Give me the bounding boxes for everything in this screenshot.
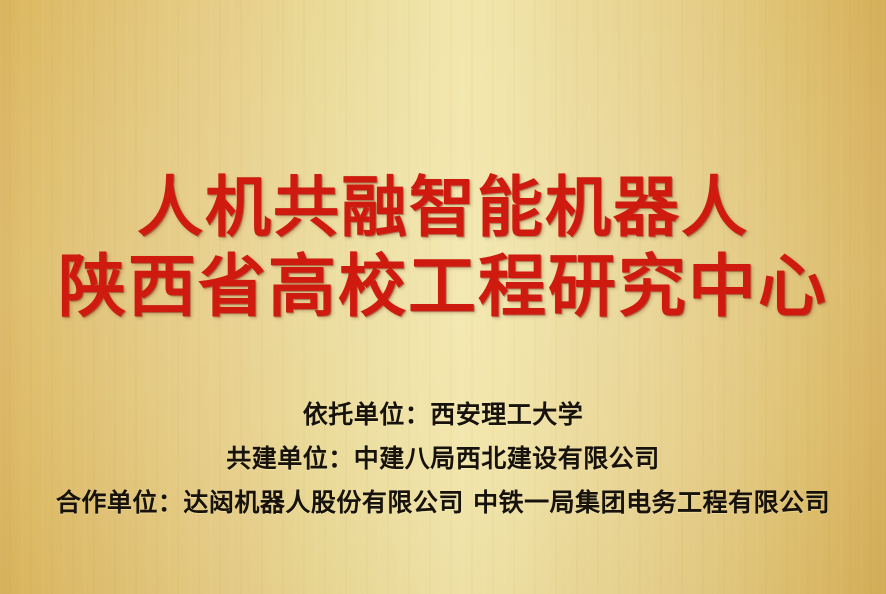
affiliation-co-builder: 共建单位：中建八局西北建设有限公司	[0, 437, 886, 481]
plaque-title: 人机共融智能机器人 陕西省高校工程研究中心	[0, 168, 886, 328]
title-line-1: 人机共融智能机器人	[0, 168, 886, 246]
affiliation-list: 依托单位：西安理工大学 共建单位：中建八局西北建设有限公司 合作单位：达闼机器人…	[0, 393, 886, 525]
title-line-2: 陕西省高校工程研究中心	[0, 246, 886, 328]
plaque-content: 人机共融智能机器人 陕西省高校工程研究中心 依托单位：西安理工大学 共建单位：中…	[0, 0, 886, 594]
affiliation-host-institution: 依托单位：西安理工大学	[0, 393, 886, 437]
affiliation-partners: 合作单位：达闼机器人股份有限公司 中铁一局集团电务工程有限公司	[0, 481, 886, 525]
plaque-board: 人机共融智能机器人 陕西省高校工程研究中心 依托单位：西安理工大学 共建单位：中…	[0, 0, 886, 594]
